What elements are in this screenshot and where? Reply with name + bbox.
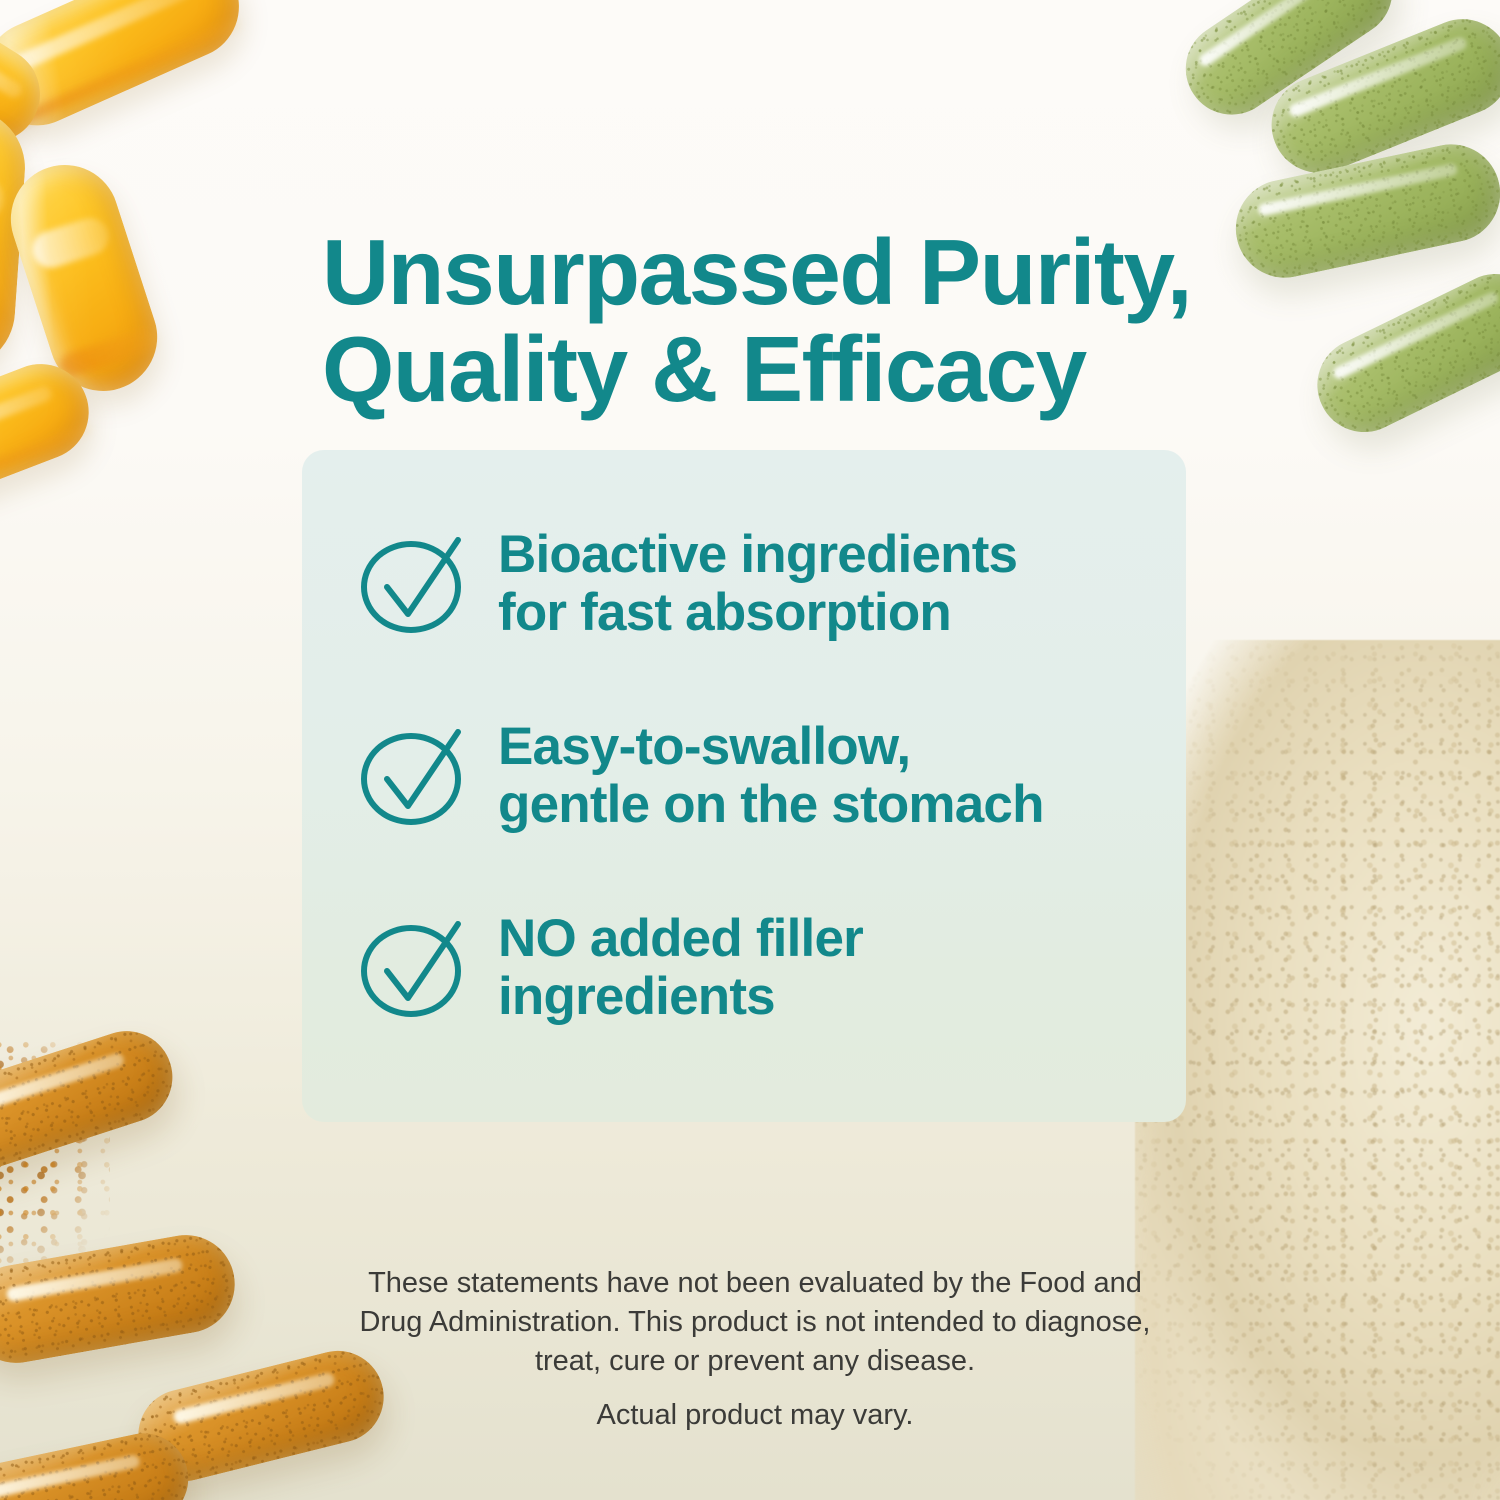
benefit-item: Bioactive ingredients for fast absorptio…: [354, 520, 1017, 643]
benefit-label: Easy-to-swallow, gentle on the stomach: [498, 712, 1044, 835]
check-circle-icon: [354, 908, 472, 1026]
check-circle-icon: [354, 716, 472, 834]
benefit-label: NO added filler ingredients: [498, 904, 863, 1027]
benefits-card: Bioactive ingredients for fast absorptio…: [302, 450, 1186, 1122]
check-circle-icon: [354, 524, 472, 642]
benefit-label: Bioactive ingredients for fast absorptio…: [498, 520, 1017, 643]
product-feature-image: Unsurpassed Purity, Quality & Efficacy B…: [0, 0, 1500, 1500]
benefit-item: Easy-to-swallow, gentle on the stomach: [354, 712, 1044, 835]
product-variance-note: Actual product may vary.: [250, 1396, 1260, 1435]
benefit-item: NO added filler ingredients: [354, 904, 863, 1027]
page-title: Unsurpassed Purity, Quality & Efficacy: [322, 224, 1222, 417]
fda-disclaimer: These statements have not been evaluated…: [250, 1264, 1260, 1381]
